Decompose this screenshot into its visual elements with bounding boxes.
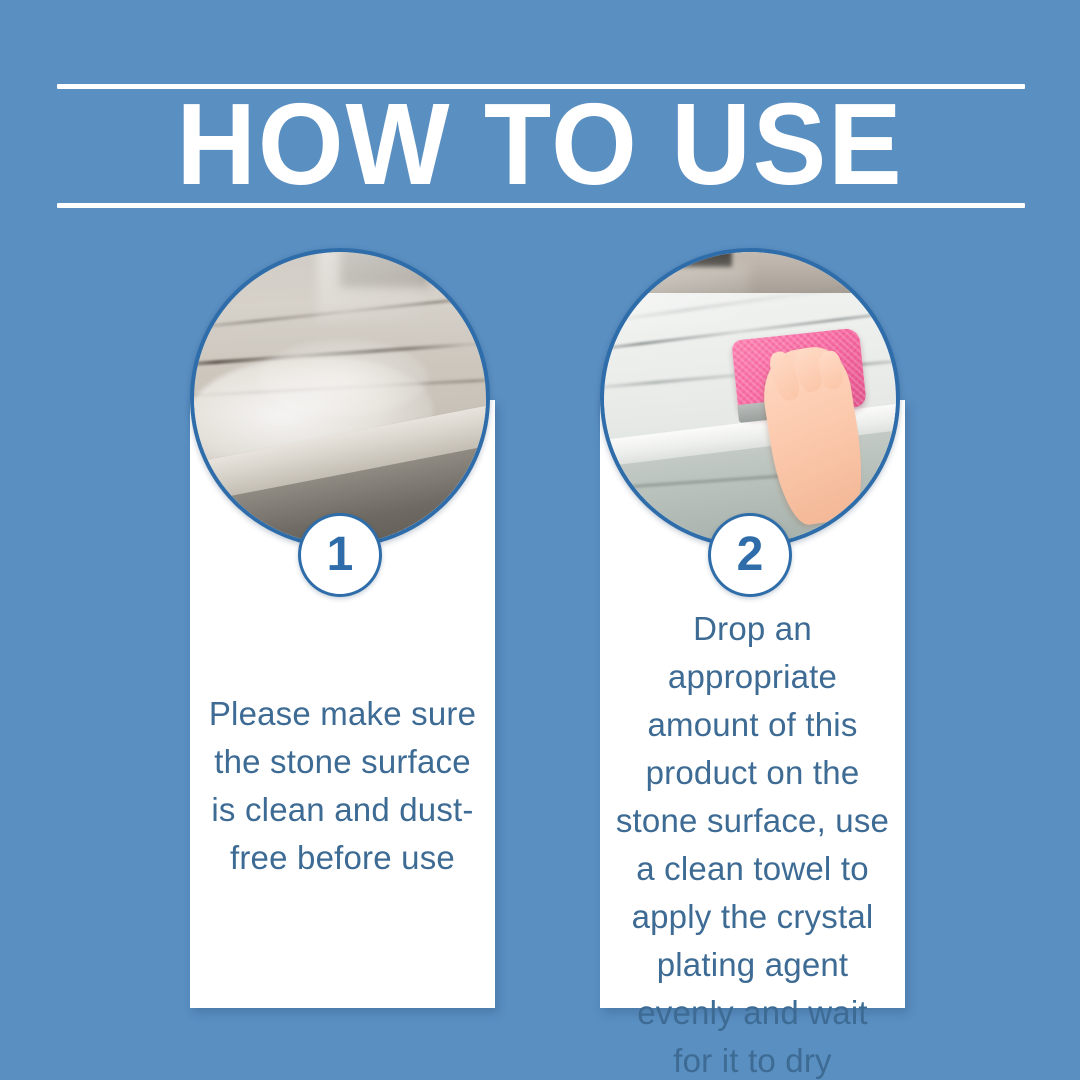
poster-header: HOW TO USE <box>0 0 1080 215</box>
step-2-image <box>600 248 900 548</box>
title-rule-bottom <box>57 203 1025 208</box>
step-number-badge-1: 1 <box>298 513 382 597</box>
surface-gloss <box>317 252 422 322</box>
step-1-image-inner <box>194 252 486 544</box>
how-to-use-poster: HOW TO USE Please make sure the stone su… <box>0 0 1080 1080</box>
step-number-badge-2: 2 <box>708 513 792 597</box>
step-2-image-inner <box>604 252 896 544</box>
step-2-text: Drop an appropriate amount of this produ… <box>614 605 891 1080</box>
step-1-image <box>190 248 490 548</box>
surface-gloss <box>604 264 750 328</box>
step-1-text: Please make sure the stone surface is cl… <box>204 690 481 882</box>
page-title: HOW TO USE <box>27 84 1053 204</box>
